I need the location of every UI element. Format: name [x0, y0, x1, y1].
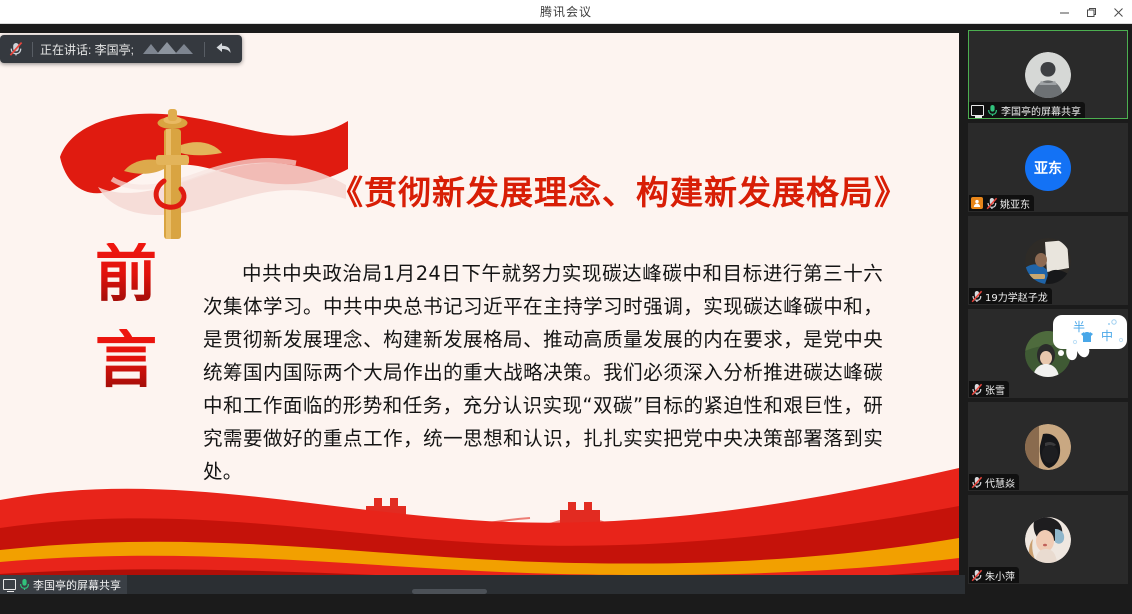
mic-muted-icon	[971, 383, 982, 396]
avatar	[1025, 517, 1071, 563]
minimize-button[interactable]	[1051, 0, 1078, 24]
mic-on-icon	[987, 104, 998, 117]
mic-muted-icon[interactable]	[7, 40, 25, 58]
window-titlebar: 腾讯会议	[0, 0, 1132, 24]
svg-text:中: 中	[1101, 328, 1113, 343]
mic-on-icon	[19, 578, 30, 591]
participant-namebar: 张雪	[969, 381, 1009, 397]
participant-tile[interactable]: 半 中 张雪	[968, 309, 1128, 398]
window-controls	[1051, 0, 1132, 24]
close-icon	[1113, 7, 1124, 18]
active-speaker-toolbar[interactable]: 正在讲话: 李国亭;	[0, 35, 242, 63]
participant-name: 代慧焱	[985, 475, 1015, 490]
toolbar-divider-1	[32, 42, 33, 57]
restore-button[interactable]	[1078, 0, 1105, 24]
participant-namebar: 姚亚东	[969, 195, 1034, 211]
avatar: 亚东	[1025, 145, 1071, 191]
window-title: 腾讯会议	[540, 3, 592, 20]
participant-tile[interactable]: 代慧焱	[968, 402, 1128, 491]
participant-name: 李国亭的屏幕共享	[1001, 103, 1081, 118]
participant-namebar: 代慧焱	[969, 474, 1019, 490]
participant-namebar: 19力学赵子龙	[969, 288, 1052, 304]
preface-char-2: 言	[95, 329, 157, 391]
red-flag-huabiao-graphic	[52, 95, 352, 245]
participant-name: 19力学赵子龙	[985, 289, 1048, 304]
presentation-slide: 前 言 《贯彻新发展理念、构建新发展格局》 中共中央政治局1月24日下午就努力实…	[0, 33, 959, 584]
screen-share-icon	[3, 579, 16, 590]
audio-wave-icon	[141, 42, 197, 56]
participant-tile[interactable]: 亚东 姚亚东	[968, 123, 1128, 212]
toolbar-divider-2	[204, 42, 205, 57]
avatar-photo	[1025, 517, 1071, 563]
preface-char-1: 前	[95, 243, 157, 305]
share-status-label: 李国亭的屏幕共享	[33, 577, 121, 593]
avatar-photo	[1025, 52, 1071, 98]
mic-muted-icon	[971, 476, 982, 489]
participant-name: 朱小萍	[985, 568, 1015, 583]
avatar	[1025, 52, 1071, 98]
active-speaker-label: 正在讲话: 李国亭;	[40, 41, 134, 58]
close-button[interactable]	[1105, 0, 1132, 24]
preface-heading: 前 言	[90, 243, 162, 391]
back-arrow-icon[interactable]	[212, 41, 235, 58]
horizontal-scrollbar-thumb[interactable]	[412, 589, 487, 594]
mic-muted-icon	[971, 569, 982, 582]
slide-title: 《贯彻新发展理念、构建新发展格局》	[330, 175, 890, 211]
restore-icon	[1086, 7, 1097, 18]
minimize-icon	[1059, 7, 1070, 18]
avatar	[1025, 424, 1071, 470]
participant-namebar: 朱小萍	[969, 567, 1019, 583]
svg-text:半: 半	[1073, 320, 1085, 334]
participant-name: 姚亚东	[1000, 196, 1030, 211]
participant-tile[interactable]: 朱小萍	[968, 495, 1128, 584]
avatar-photo	[1025, 238, 1071, 284]
share-status-pill[interactable]: 李国亭的屏幕共享	[0, 575, 127, 594]
mic-muted-icon	[971, 290, 982, 303]
participant-name: 张雪	[985, 382, 1005, 397]
shared-screen-stage[interactable]: 前 言 《贯彻新发展理念、构建新发展格局》 中共中央政治局1月24日下午就努力实…	[0, 24, 965, 594]
participant-namebar: 李国亭的屏幕共享	[969, 102, 1085, 118]
great-wall-ribbon-graphic	[0, 424, 959, 584]
avatar-photo	[1025, 424, 1071, 470]
participant-tile[interactable]: 19力学赵子龙	[968, 216, 1128, 305]
participant-rail[interactable]: 李国亭的屏幕共享 亚东 姚亚东	[965, 24, 1132, 614]
share-status-bar: 李国亭的屏幕共享	[0, 575, 965, 594]
participant-tile[interactable]: 李国亭的屏幕共享	[968, 30, 1128, 119]
host-badge-icon	[971, 197, 983, 209]
mic-muted-icon	[986, 197, 997, 210]
screen-share-icon	[971, 105, 984, 116]
avatar	[1025, 238, 1071, 284]
speech-bubble-sticker: 半 中	[1051, 313, 1128, 363]
